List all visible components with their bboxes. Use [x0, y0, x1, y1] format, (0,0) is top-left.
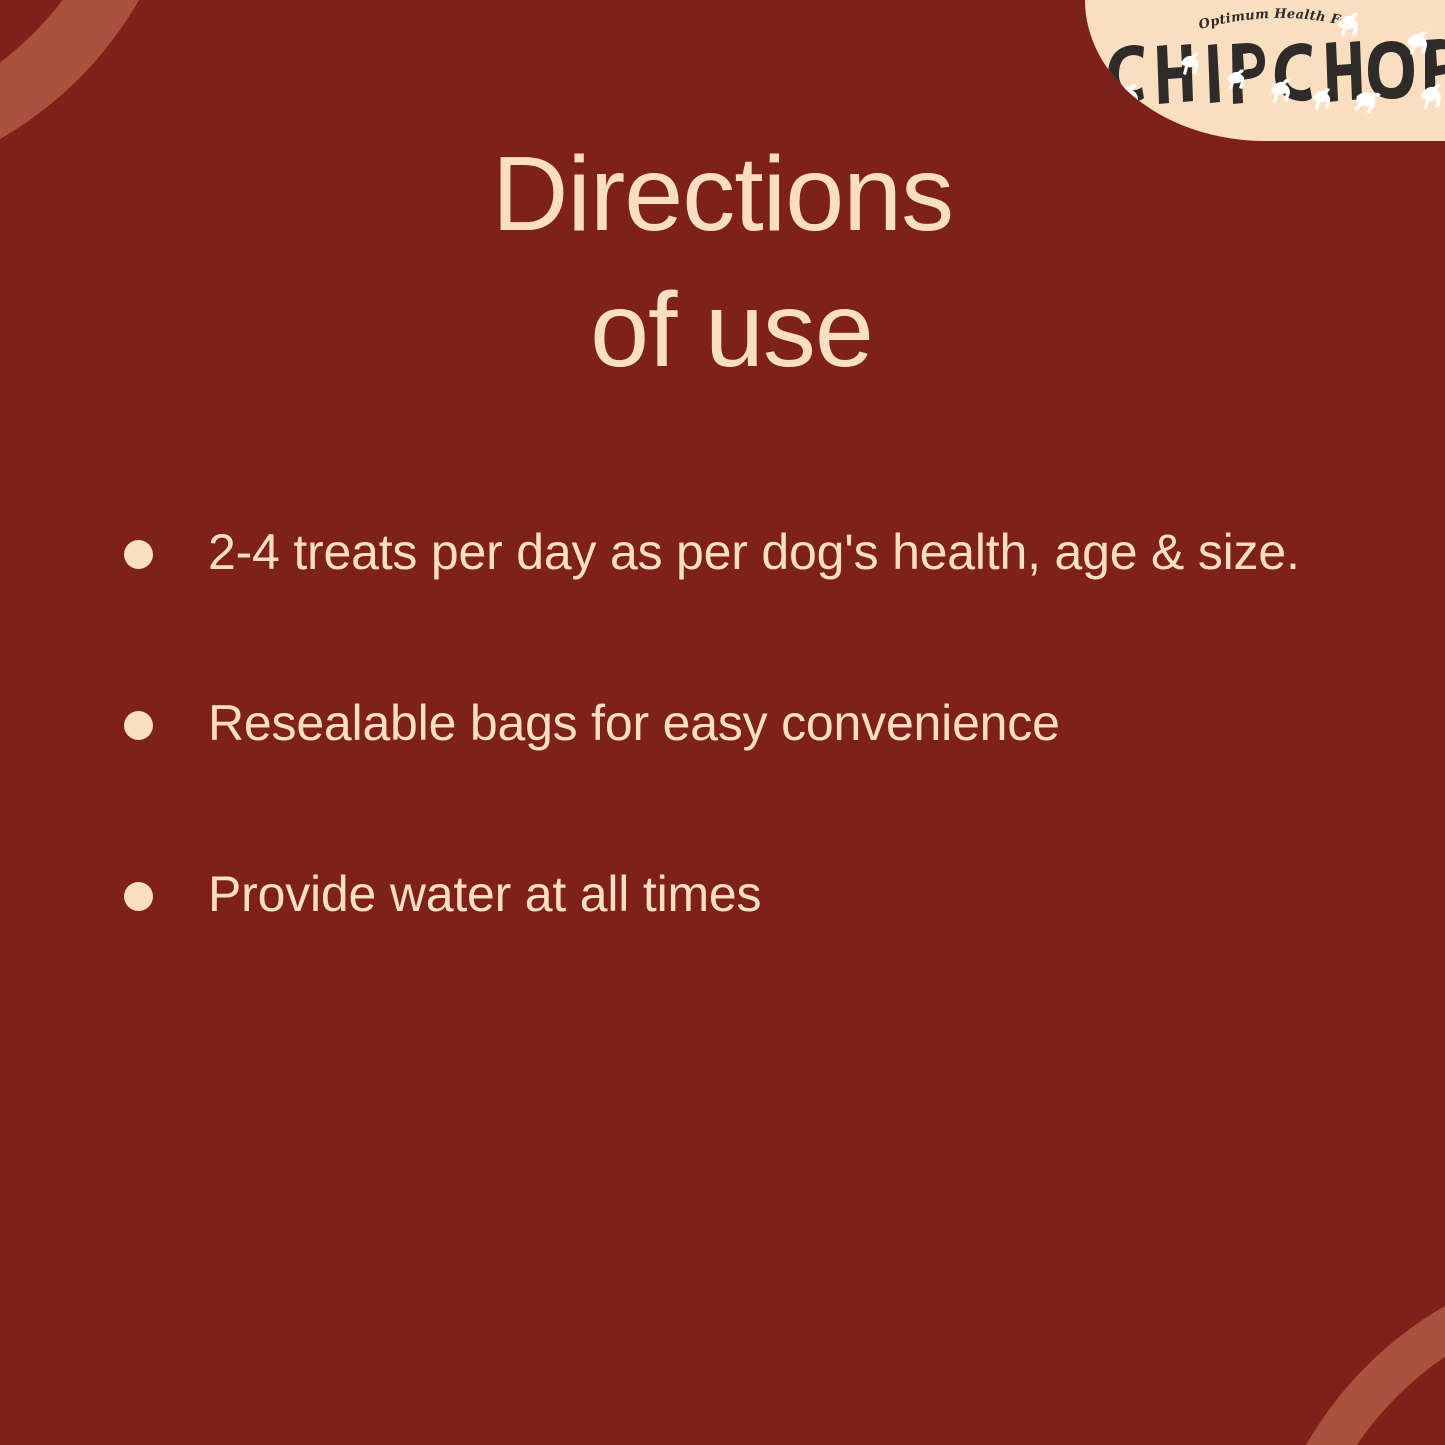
list-item: Resealable bags for easy convenience — [124, 693, 1414, 754]
list-item-label: 2-4 treats per day as per dog's health, … — [208, 522, 1300, 583]
list-item: Provide water at all times — [124, 864, 1414, 925]
directions-list: 2-4 treats per day as per dog's health, … — [124, 522, 1414, 925]
bottom-right-arc-decoration — [1255, 1255, 1445, 1445]
directions-of-use-poster: Optimum Health Formula — [0, 0, 1445, 1445]
bullet-dot-icon — [124, 882, 153, 911]
logo-wordmark-letters — [1108, 39, 1445, 119]
bullet-dot-icon — [124, 540, 153, 569]
list-item: 2-4 treats per day as per dog's health, … — [124, 522, 1414, 583]
logo-tagline-textpath: Optimum Health Formula — [1085, 0, 1350, 33]
bullet-dot-icon — [124, 711, 153, 740]
chip-chops-logo-badge: Optimum Health Formula — [1085, 0, 1445, 141]
page-title-line-1: Directions — [0, 127, 1445, 263]
list-item-label: Resealable bags for easy convenience — [208, 693, 1060, 754]
list-item-label: Provide water at all times — [208, 864, 761, 925]
page-title: Directions of use — [0, 127, 1445, 398]
logo-tagline-text: Optimum Health Formula — [1085, 0, 1350, 33]
page-title-line-2: of use — [18, 263, 1445, 399]
